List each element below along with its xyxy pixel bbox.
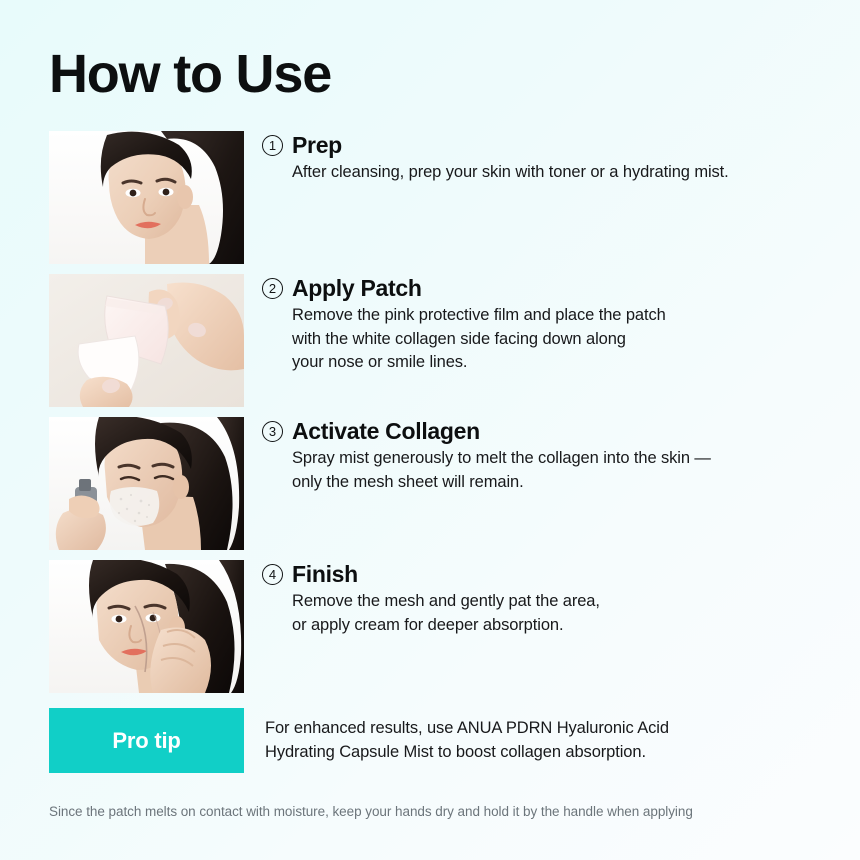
step-2-head: 2 Apply Patch bbox=[262, 276, 860, 301]
pro-tip-section: Pro tip For enhanced results, use ANUA P… bbox=[0, 708, 860, 773]
step-number-badge: 2 bbox=[262, 278, 283, 299]
step-item-4: 4 Finish Remove the mesh and gently pat … bbox=[0, 560, 860, 693]
step-3-description: Spray mist generously to melt the collag… bbox=[292, 447, 860, 494]
step-3-head: 3 Activate Collagen bbox=[262, 419, 860, 444]
step-item-2: 2 Apply Patch Remove the pink protective… bbox=[0, 274, 860, 407]
step-4-head: 4 Finish bbox=[262, 562, 860, 587]
steps-list: 1 Prep After cleansing, prep your skin w… bbox=[0, 131, 860, 703]
step-number-badge: 3 bbox=[262, 421, 283, 442]
step-2-description: Remove the pink protective film and plac… bbox=[292, 304, 860, 374]
footer-disclaimer: Since the patch melts on contact with mo… bbox=[49, 803, 693, 822]
step-1-body: 1 Prep After cleansing, prep your skin w… bbox=[262, 131, 860, 185]
page-title: How to Use bbox=[49, 47, 331, 101]
step-1-title: Prep bbox=[292, 133, 342, 158]
step-1-description: After cleansing, prep your skin with ton… bbox=[292, 161, 860, 184]
step-item-3: 3 Activate Collagen Spray mist generousl… bbox=[0, 417, 860, 550]
step-4-description: Remove the mesh and gently pat the area,… bbox=[292, 590, 860, 637]
step-number-badge: 1 bbox=[262, 135, 283, 156]
step-number-badge: 4 bbox=[262, 564, 283, 585]
step-3-body: 3 Activate Collagen Spray mist generousl… bbox=[262, 417, 860, 494]
step-2-title: Apply Patch bbox=[292, 276, 422, 301]
step-2-image bbox=[49, 274, 244, 407]
step-2-body: 2 Apply Patch Remove the pink protective… bbox=[262, 274, 860, 375]
step-3-title: Activate Collagen bbox=[292, 419, 480, 444]
step-item-1: 1 Prep After cleansing, prep your skin w… bbox=[0, 131, 860, 264]
step-4-body: 4 Finish Remove the mesh and gently pat … bbox=[262, 560, 860, 637]
step-4-image bbox=[49, 560, 244, 693]
step-3-image bbox=[49, 417, 244, 550]
how-to-use-infographic: How to Use bbox=[0, 0, 860, 860]
pro-tip-badge: Pro tip bbox=[49, 708, 244, 773]
pro-tip-text: For enhanced results, use ANUA PDRN Hyal… bbox=[265, 708, 669, 765]
step-1-head: 1 Prep bbox=[262, 133, 860, 158]
step-4-title: Finish bbox=[292, 562, 358, 587]
step-1-image bbox=[49, 131, 244, 264]
